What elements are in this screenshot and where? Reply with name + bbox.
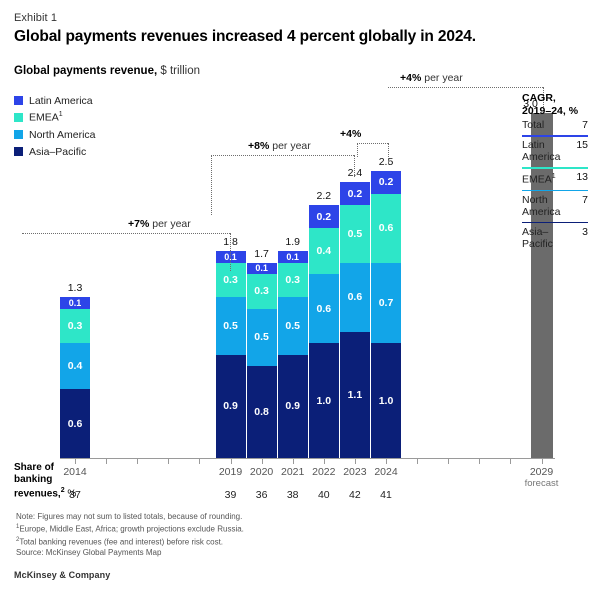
share-value-2022: 40 [304, 489, 344, 501]
cagr-row-rule [522, 190, 588, 192]
annotation-growth-4pct-short: +4% [340, 128, 361, 140]
bar-2014[interactable]: 0.10.30.40.6 [60, 297, 90, 458]
bar-total-label: 1.7 [247, 248, 277, 260]
annotation-growth-4pct-long: +4% per year [400, 72, 463, 84]
x-axis-label-2029: 2029 [522, 466, 562, 478]
bar-segment-asia-pacific[interactable]: 0.6 [60, 389, 90, 458]
chart-subtitle-unit: $ trillion [157, 65, 200, 77]
exhibit-label: Exhibit 1 [14, 12, 57, 24]
bar-segment-asia-pacific[interactable]: 0.8 [247, 366, 277, 458]
cagr-row-value: 3 [582, 226, 588, 238]
share-value-2020: 36 [242, 489, 282, 501]
x-axis-tick [293, 459, 294, 464]
bar-2019[interactable]: 0.10.30.50.9 [216, 251, 246, 458]
bar-segment-north-america[interactable]: 0.7 [371, 263, 401, 344]
bar-segment-north-america[interactable]: 0.5 [278, 297, 308, 355]
bar-segment-emea[interactable]: 0.5 [340, 205, 370, 263]
legend-item-latin-america: Latin America [14, 92, 96, 109]
bar-segment-latin-america[interactable]: 0.2 [340, 182, 370, 205]
bar-2020[interactable]: 0.10.30.50.8 [247, 263, 277, 459]
x-axis-tick [199, 459, 200, 464]
bar-segment-latin-america[interactable]: 0.1 [247, 263, 277, 275]
annotation-growth-7pct: +7% per year [128, 218, 191, 230]
bar-total-label: 1.9 [278, 236, 308, 248]
annotation-bracket-line [211, 155, 354, 156]
annotation-bracket-drop [388, 143, 389, 163]
bar-segment-emea[interactable]: 0.3 [216, 263, 246, 298]
bar-2023[interactable]: 0.20.50.61.1 [340, 182, 370, 458]
bar-total-label: 2.2 [309, 190, 339, 202]
bar-segment-latin-america[interactable]: 0.1 [60, 297, 90, 309]
annotation-bracket-line [22, 233, 230, 234]
x-axis-label-2022: 2022 [304, 466, 344, 478]
footnotes: Note: Figures may not sum to listed tota… [16, 512, 366, 559]
bar-segment-asia-pacific[interactable]: 0.9 [216, 355, 246, 459]
bar-segment-north-america[interactable]: 0.5 [247, 309, 277, 367]
share-value-2019: 39 [211, 489, 251, 501]
chart-legend: Latin AmericaEMEA1North AmericaAsia–Paci… [14, 92, 96, 160]
x-axis-tick [479, 459, 480, 464]
x-axis-tick [542, 459, 543, 464]
bar-total-label: 1.3 [60, 282, 90, 294]
bar-segment-emea[interactable]: 0.3 [278, 263, 308, 298]
legend-item-label: Asia–Pacific [29, 146, 86, 158]
chart-subtitle: Global payments revenue, $ trillion [14, 65, 200, 77]
legend-item-label: Latin America [29, 95, 93, 107]
cagr-row-value: 15 [576, 139, 588, 151]
legend-swatch-icon [14, 147, 23, 156]
cagr-row-name: Latin America [522, 139, 566, 163]
legend-swatch-icon [14, 96, 23, 105]
cagr-row-rule [522, 135, 588, 137]
annotation-bracket-drop [354, 155, 355, 177]
x-axis-tick [262, 459, 263, 464]
note-rounding: Note: Figures may not sum to listed tota… [16, 512, 366, 522]
bar-2024[interactable]: 0.20.60.71.0 [371, 171, 401, 459]
cagr-row-latin-america: Latin America15 [522, 135, 588, 163]
x-axis-sublabel-forecast: forecast [522, 478, 562, 489]
mckinsey-brand: McKinsey & Company [14, 570, 110, 580]
x-axis-label-2024: 2024 [366, 466, 406, 478]
chart-plot-area: 0.10.30.40.61.30.10.30.50.91.80.10.30.50… [0, 0, 600, 600]
cagr-row-rule [522, 222, 588, 224]
bar-segment-latin-america[interactable]: 0.2 [309, 205, 339, 228]
x-axis-label-2023: 2023 [335, 466, 375, 478]
bar-2021[interactable]: 0.10.30.50.9 [278, 251, 308, 458]
annotation-bracket-drop [230, 233, 231, 271]
bar-segment-north-america[interactable]: 0.4 [60, 343, 90, 389]
bar-2022[interactable]: 0.20.40.61.0 [309, 205, 339, 458]
legend-item-label: EMEA1 [29, 111, 63, 124]
bar-segment-asia-pacific[interactable]: 1.0 [371, 343, 401, 458]
cagr-table: CAGR,2019–24, % Total7Latin America15EME… [522, 92, 588, 250]
cagr-row-total: Total7 [522, 119, 588, 131]
x-axis-tick [355, 459, 356, 464]
cagr-table-header: CAGR,2019–24, % [522, 92, 588, 117]
chart-subtitle-bold: Global payments revenue, [14, 65, 157, 77]
cagr-row-name: Asia–Pacific [522, 226, 566, 250]
cagr-row-rule [522, 167, 588, 169]
bar-segment-emea[interactable]: 0.3 [60, 309, 90, 344]
cagr-row-emea: EMEA113 [522, 167, 588, 186]
legend-item-emea: EMEA1 [14, 109, 96, 126]
legend-swatch-icon [14, 130, 23, 139]
bar-total-label: 1.8 [216, 236, 246, 248]
bar-segment-emea[interactable]: 0.4 [309, 228, 339, 274]
bar-segment-emea[interactable]: 0.6 [371, 194, 401, 263]
cagr-row-name: North America [522, 194, 566, 218]
annotation-bracket-drop [211, 155, 212, 215]
legend-item-north-america: North America [14, 126, 96, 143]
bar-segment-north-america[interactable]: 0.6 [309, 274, 339, 343]
x-axis-tick [168, 459, 169, 464]
share-value-2021: 38 [273, 489, 313, 501]
legend-swatch-icon [14, 113, 23, 122]
bar-segment-asia-pacific[interactable]: 0.9 [278, 355, 308, 459]
x-axis-line [60, 458, 555, 459]
footnote-2: 2Total banking revenues (fee and interes… [16, 535, 366, 548]
bar-segment-asia-pacific[interactable]: 1.1 [340, 332, 370, 459]
bar-segment-latin-america[interactable]: 0.1 [216, 251, 246, 263]
x-axis-tick [231, 459, 232, 464]
x-axis-label-2020: 2020 [242, 466, 282, 478]
bar-segment-asia-pacific[interactable]: 1.0 [309, 343, 339, 458]
source-line: Source: McKinsey Global Payments Map [16, 548, 366, 558]
cagr-row-north-america: North America7 [522, 190, 588, 218]
annotation-bracket-line [357, 143, 388, 144]
x-axis-tick [137, 459, 138, 464]
x-axis-tick [324, 459, 325, 464]
cagr-row-name: EMEA1 [522, 171, 556, 186]
bar-total-label: 2.5 [371, 156, 401, 168]
share-value-2024: 41 [366, 489, 406, 501]
share-of-banking-revenues-label: Share of banking revenues,2 % [14, 462, 90, 500]
bar-segment-north-america[interactable]: 0.6 [340, 263, 370, 332]
cagr-row-value: 13 [576, 171, 588, 183]
annotation-bracket-drop [357, 143, 358, 157]
share-value-2023: 42 [335, 489, 375, 501]
x-axis-tick [448, 459, 449, 464]
page-title: Global payments revenues increased 4 per… [14, 28, 476, 46]
footnote-1: 1Europe, Middle East, Africa; growth pro… [16, 522, 366, 535]
bar-segment-latin-america[interactable]: 0.2 [371, 171, 401, 194]
x-axis-tick [510, 459, 511, 464]
x-axis-tick [386, 459, 387, 464]
cagr-row-value: 7 [582, 194, 588, 206]
x-axis-label-2019: 2019 [211, 466, 251, 478]
bar-segment-emea[interactable]: 0.3 [247, 274, 277, 309]
cagr-row-value: 7 [582, 119, 588, 131]
legend-item-label: North America [29, 129, 96, 141]
bar-total-label: 2.4 [340, 167, 370, 179]
x-axis-tick [106, 459, 107, 464]
cagr-row-name: Total [522, 119, 544, 131]
x-axis-label-2021: 2021 [273, 466, 313, 478]
annotation-growth-8pct: +8% per year [248, 140, 311, 152]
bar-segment-north-america[interactable]: 0.5 [216, 297, 246, 355]
x-axis-tick [417, 459, 418, 464]
legend-item-asia-pacific: Asia–Pacific [14, 143, 96, 160]
cagr-row-asia-pacific: Asia–Pacific3 [522, 222, 588, 250]
bar-segment-latin-america[interactable]: 0.1 [278, 251, 308, 263]
annotation-bracket-line [388, 87, 543, 88]
